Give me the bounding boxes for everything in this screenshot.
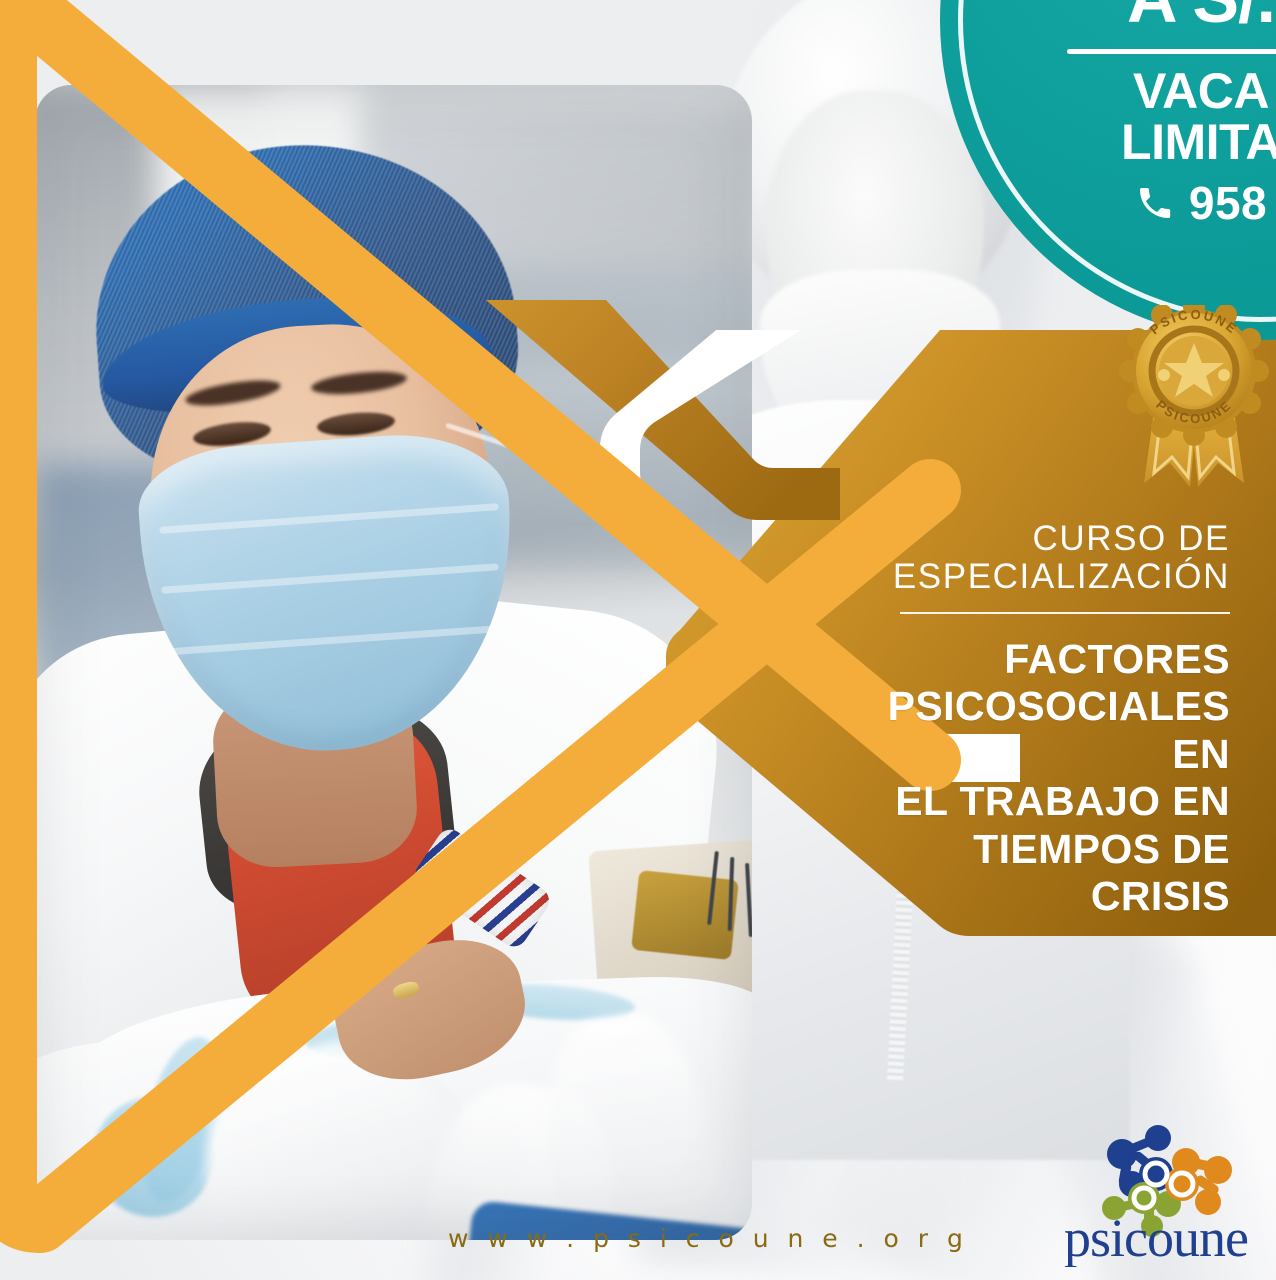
course-title-line-4: TIEMPOS DE: [836, 826, 1230, 874]
logo-wordmark: psicoune: [1064, 1208, 1248, 1267]
course-title-line-5: CRISIS: [836, 873, 1230, 921]
vacancies-line-1: VACA: [986, 66, 1276, 117]
course-title-line-3: EL TRABAJO EN: [836, 778, 1230, 826]
phone-number: 958: [1189, 176, 1267, 230]
psicoune-logo[interactable]: psicoune: [1060, 1122, 1266, 1267]
course-kicker-line-1: CURSO DE: [836, 520, 1230, 558]
poster-canvas: A S/. VACA LIMITA 958: [0, 0, 1276, 1280]
price-badge-content: A S/. VACA LIMITA 958: [986, 0, 1276, 230]
award-seal-icon: PSICOUNE PSICOUNE: [1108, 305, 1276, 495]
course-kicker-line-2: ESPECIALIZACIÓN: [836, 558, 1230, 596]
course-text-block: CURSO DE ESPECIALIZACIÓN FACTORES PSICOS…: [836, 520, 1248, 921]
course-title-line-2: PSICOSOCIALES EN: [836, 683, 1230, 778]
website-url[interactable]: w w w . p s i c o u n e . o r g: [448, 1224, 868, 1253]
course-divider: [900, 612, 1230, 614]
course-title-line-1: FACTORES: [836, 636, 1230, 684]
phone-icon: [1135, 183, 1175, 223]
price-badge-divider: [1067, 49, 1276, 54]
price-label: A S/.: [986, 0, 1276, 33]
vacancies-line-2: LIMITA: [986, 117, 1276, 168]
phone-contact[interactable]: 958: [986, 176, 1276, 230]
